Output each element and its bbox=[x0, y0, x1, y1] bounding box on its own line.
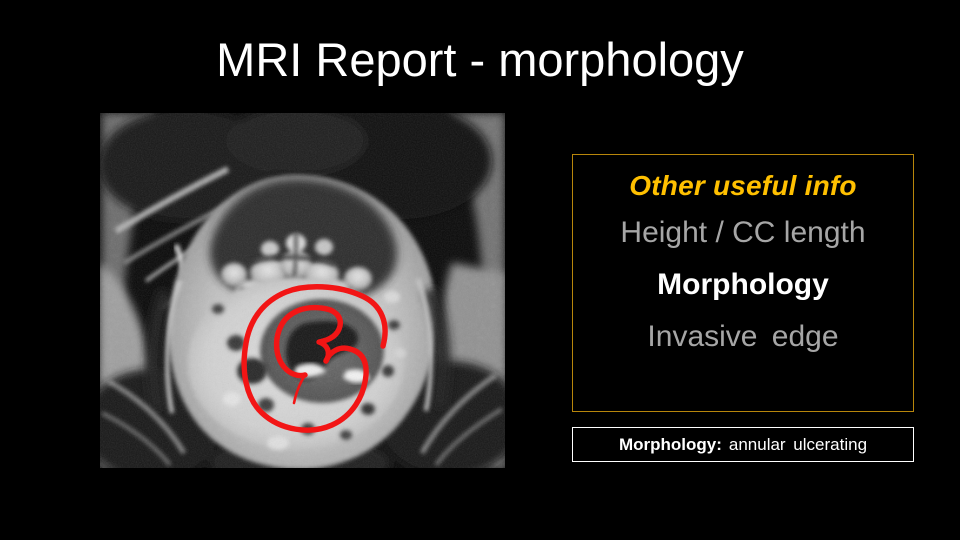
info-item-morphology: Morphology bbox=[573, 259, 913, 311]
info-box-heading: Other useful info bbox=[573, 165, 913, 207]
page-title: MRI Report - morphology bbox=[0, 32, 960, 88]
mri-image-panel[interactable] bbox=[100, 113, 505, 468]
info-item-invasive-edge: Invasive edge bbox=[573, 311, 913, 363]
caption-value: annular ulcerating bbox=[729, 435, 867, 455]
slide-canvas: MRI Report - morphology bbox=[0, 0, 960, 540]
other-useful-info-box: Other useful info Height / CC length Mor… bbox=[572, 154, 914, 412]
mri-axial-t2-image bbox=[100, 113, 505, 468]
morphology-caption-box: Morphology: annular ulcerating bbox=[572, 427, 914, 462]
caption-label: Morphology: bbox=[619, 435, 722, 455]
info-item-height-cc-length: Height / CC length bbox=[573, 207, 913, 259]
